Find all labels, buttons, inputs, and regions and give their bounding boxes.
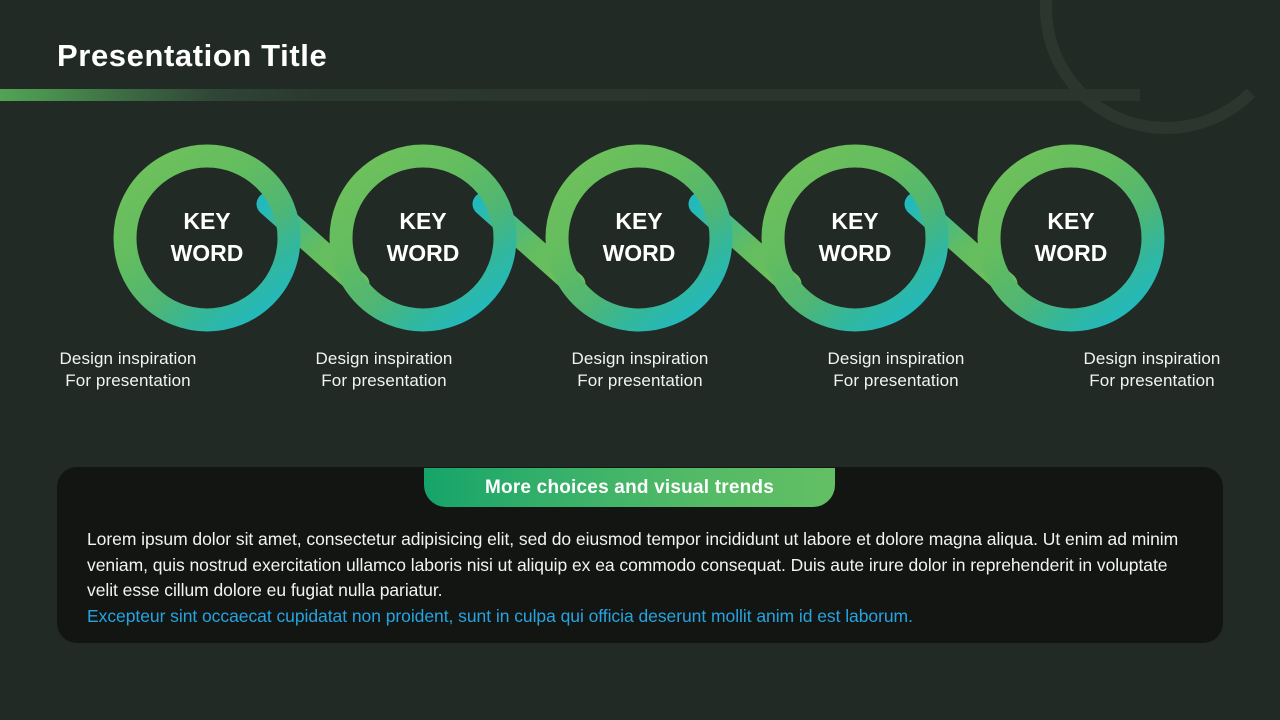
- keyword-4-line1: KEY: [831, 208, 878, 234]
- keyword-4-line2: WORD: [819, 240, 892, 266]
- chain-rings: [125, 156, 1153, 320]
- caption-5-line1: Design inspiration: [1024, 348, 1280, 370]
- keyword-3-line1: KEY: [615, 208, 662, 234]
- keyword-ring-4: [773, 156, 937, 320]
- keyword-3-line2: WORD: [603, 240, 676, 266]
- caption-2: Design inspiration For presentation: [256, 348, 512, 410]
- keyword-5-line1: KEY: [1047, 208, 1094, 234]
- title-divider-rule: [0, 89, 1140, 101]
- caption-2-line2: For presentation: [256, 370, 512, 392]
- caption-3-line2: For presentation: [512, 370, 768, 392]
- banner-badge-label: More choices and visual trends: [485, 477, 774, 499]
- caption-4-line2: For presentation: [768, 370, 1024, 392]
- page-title: Presentation Title: [57, 38, 327, 74]
- keyword-ring-1: [125, 156, 289, 320]
- caption-5-line2: For presentation: [1024, 370, 1280, 392]
- caption-1-line2: For presentation: [0, 370, 256, 392]
- keyword-ring-2: [341, 156, 505, 320]
- caption-5: Design inspiration For presentation: [1024, 348, 1280, 410]
- caption-1-line1: Design inspiration: [0, 348, 256, 370]
- corner-curve-decoration: [1040, 0, 1280, 134]
- keyword-ring-5: [989, 156, 1153, 320]
- keyword-chain: KEY WORD KEY WORD KEY WORD KEY WORD KEY …: [0, 128, 1280, 354]
- keyword-ring-3: [557, 156, 721, 320]
- caption-1: Design inspiration For presentation: [0, 348, 256, 410]
- keyword-1-line1: KEY: [183, 208, 230, 234]
- keyword-5-line2: WORD: [1035, 240, 1108, 266]
- caption-row: Design inspiration For presentation Desi…: [0, 348, 1280, 410]
- caption-4-line1: Design inspiration: [768, 348, 1024, 370]
- caption-3: Design inspiration For presentation: [512, 348, 768, 410]
- presentation-slide: Presentation Title: [0, 0, 1280, 720]
- keyword-1-line2: WORD: [171, 240, 244, 266]
- caption-2-line1: Design inspiration: [256, 348, 512, 370]
- chain-graphic: KEY WORD KEY WORD KEY WORD KEY WORD KEY …: [0, 128, 1280, 354]
- slide-header: Presentation Title: [0, 0, 1280, 102]
- body-copy: Lorem ipsum dolor sit amet, consectetur …: [87, 527, 1192, 629]
- caption-3-line1: Design inspiration: [512, 348, 768, 370]
- body-paragraph: Lorem ipsum dolor sit amet, consectetur …: [87, 527, 1192, 604]
- body-highlight-line: Excepteur sint occaecat cupidatat non pr…: [87, 604, 1192, 630]
- banner-badge[interactable]: More choices and visual trends: [424, 468, 835, 507]
- keyword-2-line1: KEY: [399, 208, 446, 234]
- keyword-2-line2: WORD: [387, 240, 460, 266]
- caption-4: Design inspiration For presentation: [768, 348, 1024, 410]
